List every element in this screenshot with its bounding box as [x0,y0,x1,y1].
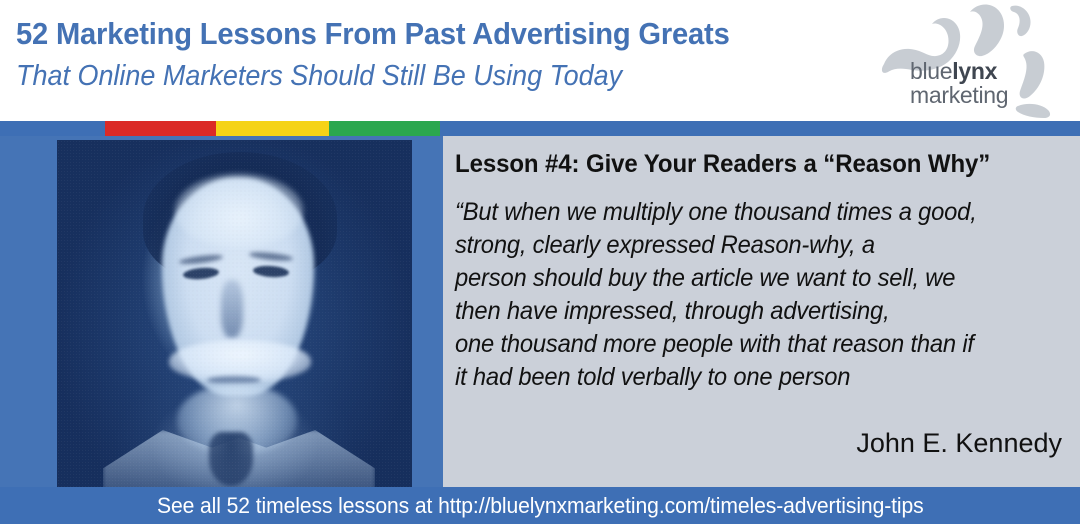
slide-canvas: 52 Marketing Lessons From Past Advertisi… [0,0,1080,524]
portrait-photo [57,140,412,487]
quote-line: then have impressed, through advertising… [455,295,1042,328]
portrait-film-grain [57,140,412,487]
header: 52 Marketing Lessons From Past Advertisi… [0,0,1080,121]
logo-line-one: bluelynx [910,60,1008,83]
quote-line: it had been told verbally to one person [455,361,1042,394]
accent-segment-blue-left [0,121,105,136]
quote-line: strong, clearly expressed Reason-why, a [455,229,1042,262]
logo-word-lynx: lynx [952,58,997,84]
quote-line: one thousand more people with that reaso… [455,328,1042,361]
quote-attribution: John E. Kennedy [856,428,1062,459]
page-subtitle: That Online Marketers Should Still Be Us… [16,59,797,94]
quote-line: “But when we multiply one thousand times… [455,196,1042,229]
accent-segment-green [329,121,440,136]
accent-color-bar [0,121,1080,136]
logo-wordmark: bluelynx marketing [910,60,1008,107]
logo-line-two: marketing [910,84,1008,107]
bluelynx-logo[interactable]: bluelynx marketing [872,2,1072,120]
quote-panel: Lesson #4: Give Your Readers a “Reason W… [443,136,1080,487]
quote-line: person should buy the article we want to… [455,262,1042,295]
accent-segment-red [105,121,216,136]
footer-bar: See all 52 timeless lessons at http://bl… [0,487,1080,524]
page-title: 52 Marketing Lessons From Past Advertisi… [16,16,806,52]
accent-segment-yellow [216,121,329,136]
header-titles: 52 Marketing Lessons From Past Advertisi… [16,16,856,93]
quote-text: “But when we multiply one thousand times… [455,196,1073,394]
accent-segment-blue-right [440,121,1080,136]
footer-cta-text[interactable]: See all 52 timeless lessons at http://bl… [157,493,924,519]
logo-word-blue: blue [910,58,952,84]
lesson-heading: Lesson #4: Give Your Readers a “Reason W… [455,150,990,179]
